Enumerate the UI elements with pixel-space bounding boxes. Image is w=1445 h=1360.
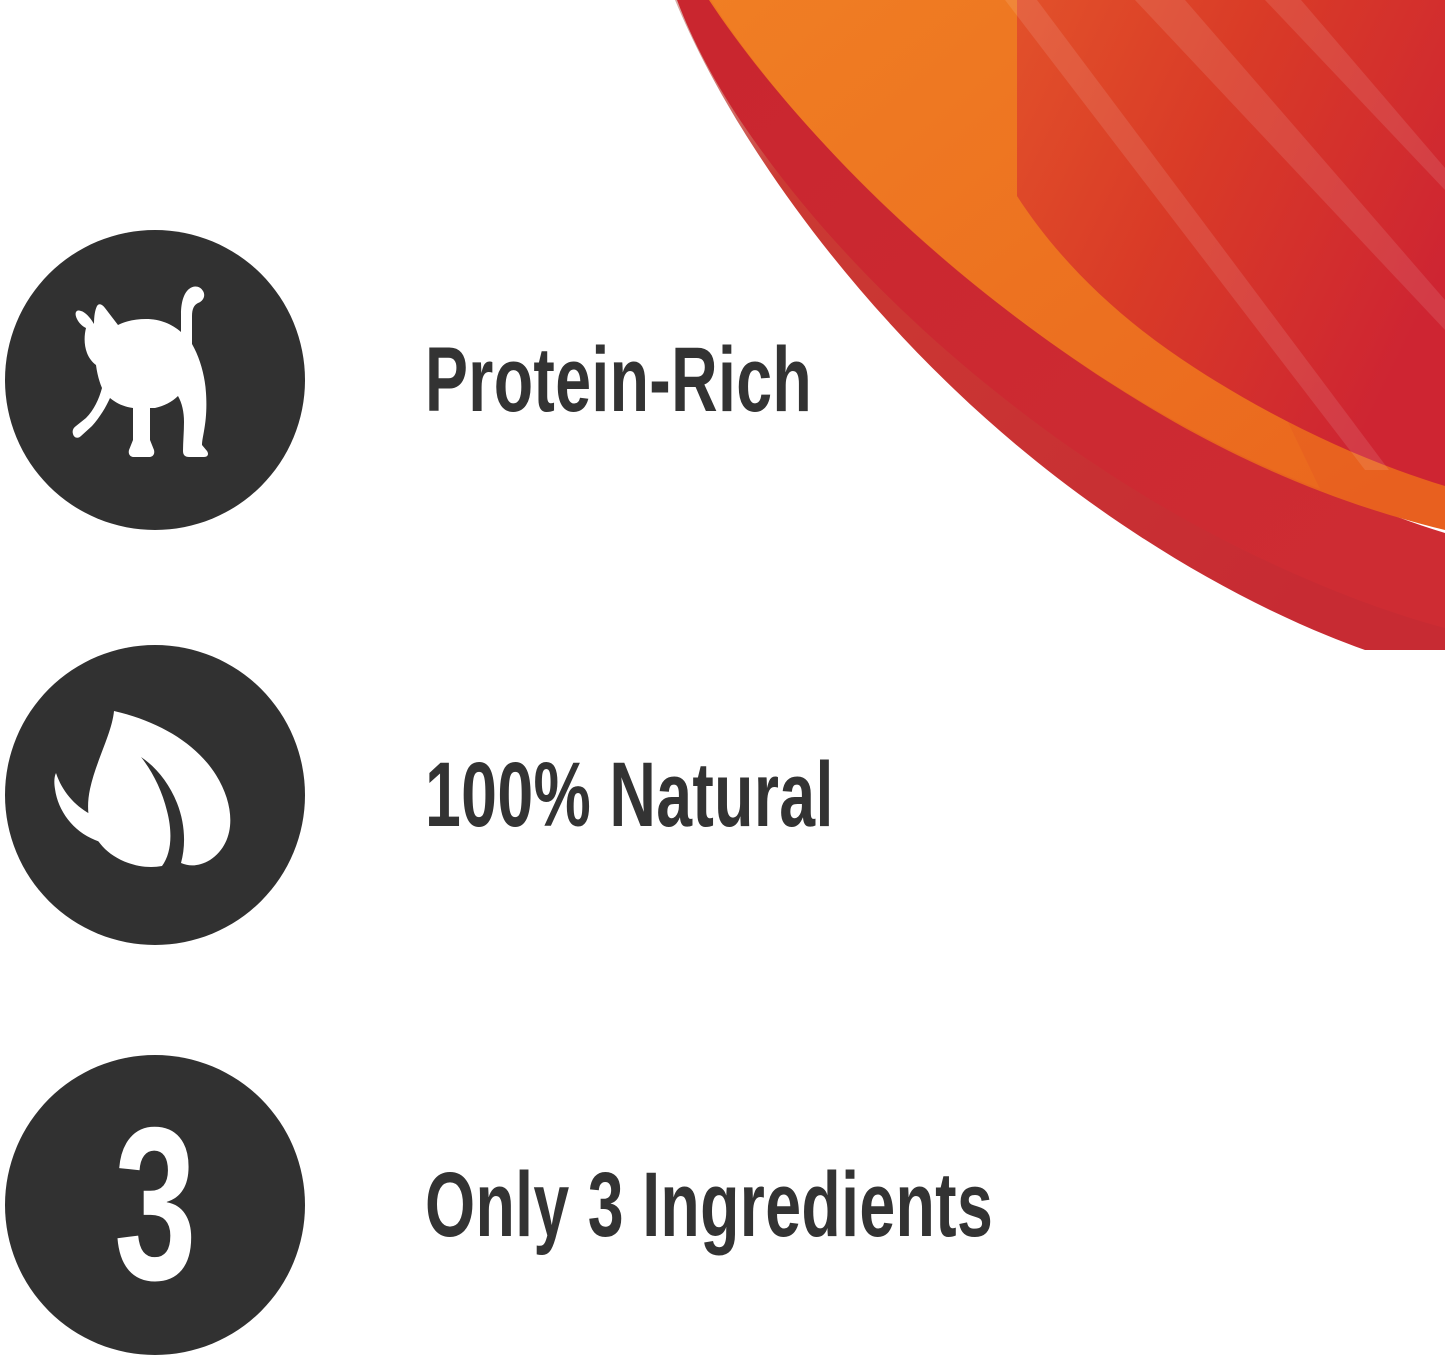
badge-number-label: 3: [114, 1096, 195, 1314]
feature-list: Protein-Rich 100% Natural 3 Only 3 Ingre…: [0, 0, 1445, 1360]
feature-row: 100% Natural: [0, 645, 1300, 945]
feature-row: 3 Only 3 Ingredients: [0, 1055, 1300, 1355]
feature-row: Protein-Rich: [0, 230, 1300, 530]
feature-highlight-panel: Protein-Rich 100% Natural 3 Only 3 Ingre…: [0, 0, 1445, 1360]
number-three-icon: 3: [5, 1055, 305, 1355]
feature-label: Only 3 Ingredients: [425, 1159, 993, 1251]
feature-label: Protein-Rich: [425, 334, 812, 426]
leaf-icon: [5, 645, 305, 945]
cat-silhouette-icon: [5, 230, 305, 530]
feature-label: 100% Natural: [425, 749, 834, 841]
